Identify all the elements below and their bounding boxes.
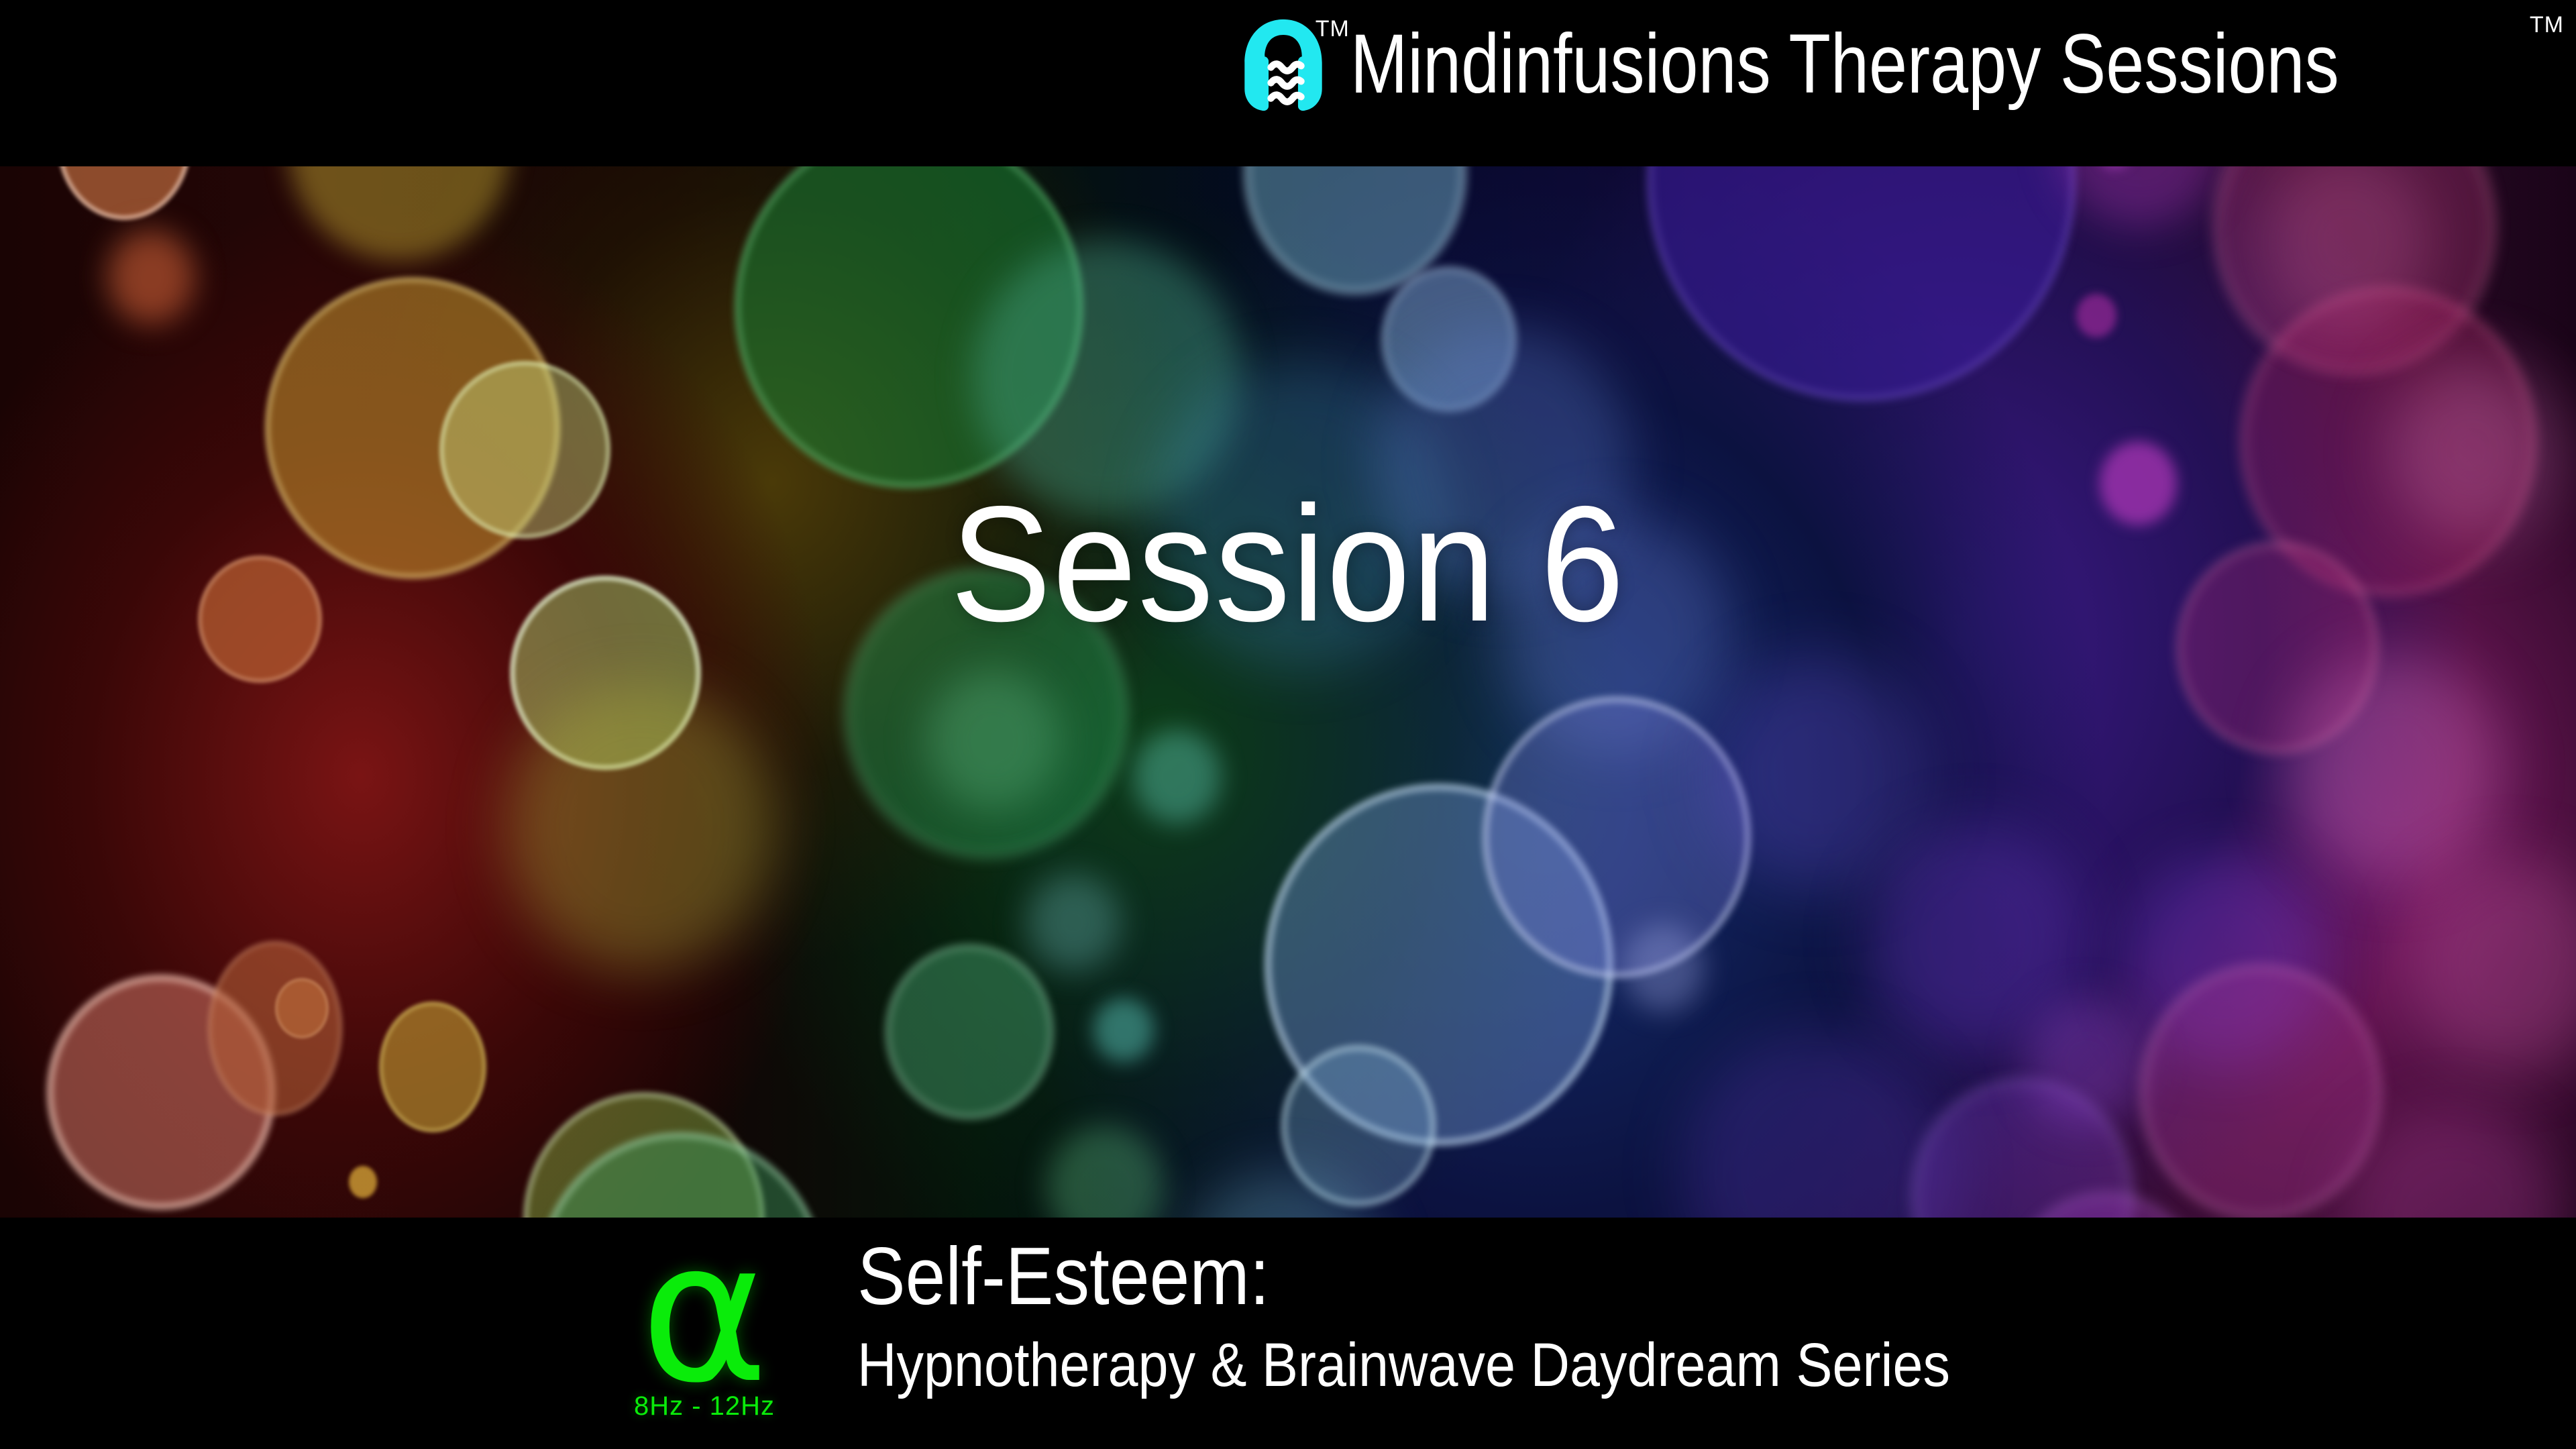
bokeh-circle xyxy=(2026,998,2147,1126)
bokeh-circle xyxy=(1026,874,1120,971)
bokeh-circle xyxy=(2076,294,2116,337)
bokeh-circle xyxy=(926,669,1060,810)
program-subtitle: Hypnotherapy & Brainwave Daydream Series xyxy=(857,1330,1950,1401)
bokeh-circle xyxy=(208,941,342,1116)
bokeh-circle xyxy=(1707,656,1929,891)
bokeh-circle xyxy=(379,1002,486,1132)
bokeh-circle xyxy=(1093,998,1154,1062)
bokeh-circle xyxy=(1483,696,1751,978)
bokeh-circle xyxy=(506,683,775,971)
program-title: Self-Esteem: xyxy=(857,1232,1950,1321)
session-artwork-canvas: Session 6 TM TM Mindinfusions Therapy Se… xyxy=(0,0,2576,1449)
frequency-range-label: 8Hz - 12Hz xyxy=(607,1393,802,1419)
footer-bar: α 8Hz - 12Hz Self-Esteem: Hypnotherapy &… xyxy=(0,1218,2576,1449)
program-info: Self-Esteem: Hypnotherapy & Brainwave Da… xyxy=(857,1232,2099,1401)
brand-name: Mindinfusions Therapy Sessions xyxy=(1350,22,2339,110)
header-bar: TM TM Mindinfusions Therapy Sessions xyxy=(0,0,2576,166)
brand-logo: TM xyxy=(1236,5,1337,126)
bokeh-circle xyxy=(349,1166,377,1198)
brand-lockup: TM Mindinfusions Therapy Sessions xyxy=(1236,5,2556,126)
bokeh-circle xyxy=(1134,730,1221,824)
bokeh-circle xyxy=(275,978,329,1038)
session-title: Session 6 xyxy=(103,482,2473,646)
alpha-wave-symbol: α xyxy=(607,1230,802,1397)
bokeh-circle xyxy=(2288,656,2502,881)
alpha-band-badge: α 8Hz - 12Hz xyxy=(607,1230,802,1431)
bokeh-circle xyxy=(1623,924,1704,1012)
bokeh-circle xyxy=(885,945,1053,1119)
bokeh-background: Session 6 xyxy=(0,166,2576,1218)
bokeh-circle xyxy=(2140,965,2381,1218)
bokeh-circle xyxy=(107,230,195,324)
trademark-mark-logo: TM xyxy=(1316,17,1350,40)
